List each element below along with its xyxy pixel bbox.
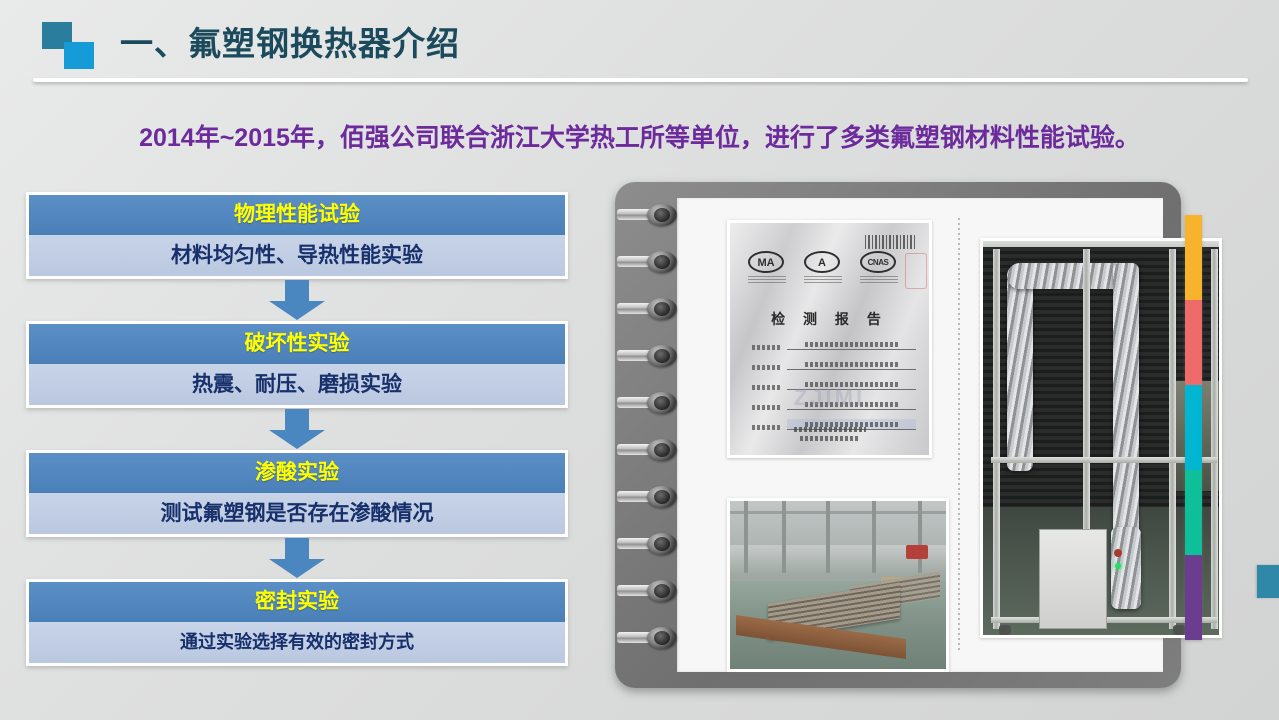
notebook-frame: MA A CNAS 检 测 报 告 (615, 182, 1181, 688)
down-arrow-icon (269, 280, 325, 320)
caster-wheel-icon (999, 625, 1011, 635)
color-tab-green[interactable] (1185, 470, 1202, 555)
caster-wheel-icon (1173, 625, 1185, 635)
report-title: 检 测 报 告 (730, 309, 929, 329)
flow-arrow-1-wrapper (26, 279, 568, 321)
binding-ring (617, 486, 691, 508)
issuer-name-line (794, 427, 866, 432)
binding-ring (617, 627, 691, 649)
cert-mark-label: A (804, 251, 840, 273)
issuer-date-line (800, 436, 860, 441)
notebook-page: MA A CNAS 检 测 报 告 (677, 198, 1163, 672)
status-led-icon (1115, 563, 1121, 569)
flow-arrow-2-wrapper (26, 408, 568, 450)
insulated-duct-left (1007, 275, 1033, 471)
workshop-photo[interactable] (727, 498, 949, 672)
binding-ring (617, 345, 691, 367)
color-tab-orange[interactable] (1185, 215, 1202, 300)
flow-block-title: 破坏性实验 (29, 324, 565, 364)
slide-header: 一、氟塑钢换热器介绍 (0, 0, 1279, 92)
photo-column-left: MA A CNAS 检 测 报 告 (727, 220, 949, 650)
report-field-row (752, 359, 916, 370)
insulated-duct-right (1113, 263, 1139, 539)
experiment-flow-chart: 物理性能试验 材料均匀性、导热性能实验 破坏性实验 热震、耐压、磨损实验 渗酸实… (26, 192, 568, 666)
flow-block-sealing: 密封实验 通过实验选择有效的密封方式 (26, 579, 568, 666)
spiral-binding (615, 204, 693, 666)
binding-ring (617, 204, 691, 226)
flow-block-title: 密封实验 (29, 582, 565, 622)
color-tab-purple[interactable] (1185, 555, 1202, 640)
flow-block-description: 热震、耐压、磨损实验 (29, 364, 565, 405)
test-rig-scene (983, 241, 1219, 635)
binding-ring (617, 580, 691, 602)
certification-marks: MA A CNAS (748, 251, 898, 285)
column-divider (958, 218, 960, 652)
flow-block-description: 材料均匀性、导热性能实验 (29, 235, 565, 276)
control-panel (1039, 529, 1107, 629)
cert-mark-label: CNAS (860, 251, 896, 273)
flow-block-title: 渗酸实验 (29, 453, 565, 493)
binding-ring (617, 251, 691, 273)
report-watermark: ZJIMI (730, 385, 929, 411)
report-field-row (752, 339, 916, 350)
test-report-photo[interactable]: MA A CNAS 检 测 报 告 (727, 220, 932, 458)
cert-mark-label: MA (748, 251, 784, 273)
binding-ring (617, 298, 691, 320)
down-arrow-icon (269, 538, 325, 578)
flow-block-description: 通过实验选择有效的密封方式 (29, 622, 565, 663)
report-issuer (730, 427, 929, 441)
cert-mark-cnas: CNAS (860, 251, 898, 285)
corner-accent-square (1257, 565, 1279, 598)
down-arrow-icon (269, 409, 325, 449)
cert-mark-ma: MA (748, 251, 786, 285)
title-divider (33, 78, 1248, 82)
flow-block-destructive: 破坏性实验 热震、耐压、磨损实验 (26, 321, 568, 408)
binding-ring (617, 392, 691, 414)
binding-ring (617, 439, 691, 461)
color-tab-strip (1185, 215, 1202, 640)
color-tab-red[interactable] (1185, 300, 1202, 385)
logo-squares-decoration (42, 22, 98, 68)
slide-subtitle: 2014年~2015年，佰强公司联合浙江大学热工所等单位，进行了多类氟塑钢材料性… (0, 118, 1279, 154)
workshop-scene (730, 501, 946, 669)
flow-block-physical: 物理性能试验 材料均匀性、导热性能实验 (26, 192, 568, 279)
page-title: 一、氟塑钢换热器介绍 (120, 17, 460, 65)
red-stamp-icon (905, 253, 927, 289)
emergency-stop-icon (1114, 549, 1122, 557)
flow-block-acid-permeation: 渗酸实验 测试氟塑钢是否存在渗酸情况 (26, 450, 568, 537)
flow-block-description: 测试氟塑钢是否存在渗酸情况 (29, 493, 565, 534)
binding-ring (617, 533, 691, 555)
forklift-icon (906, 545, 928, 559)
flow-block-title: 物理性能试验 (29, 195, 565, 235)
cert-mark-a: A (804, 251, 842, 285)
report-paper: MA A CNAS 检 测 报 告 (730, 223, 929, 455)
color-tab-cyan[interactable] (1185, 385, 1202, 470)
barcode-icon (865, 235, 917, 249)
flow-arrow-3-wrapper (26, 537, 568, 579)
logo-square-light-icon (64, 42, 94, 69)
